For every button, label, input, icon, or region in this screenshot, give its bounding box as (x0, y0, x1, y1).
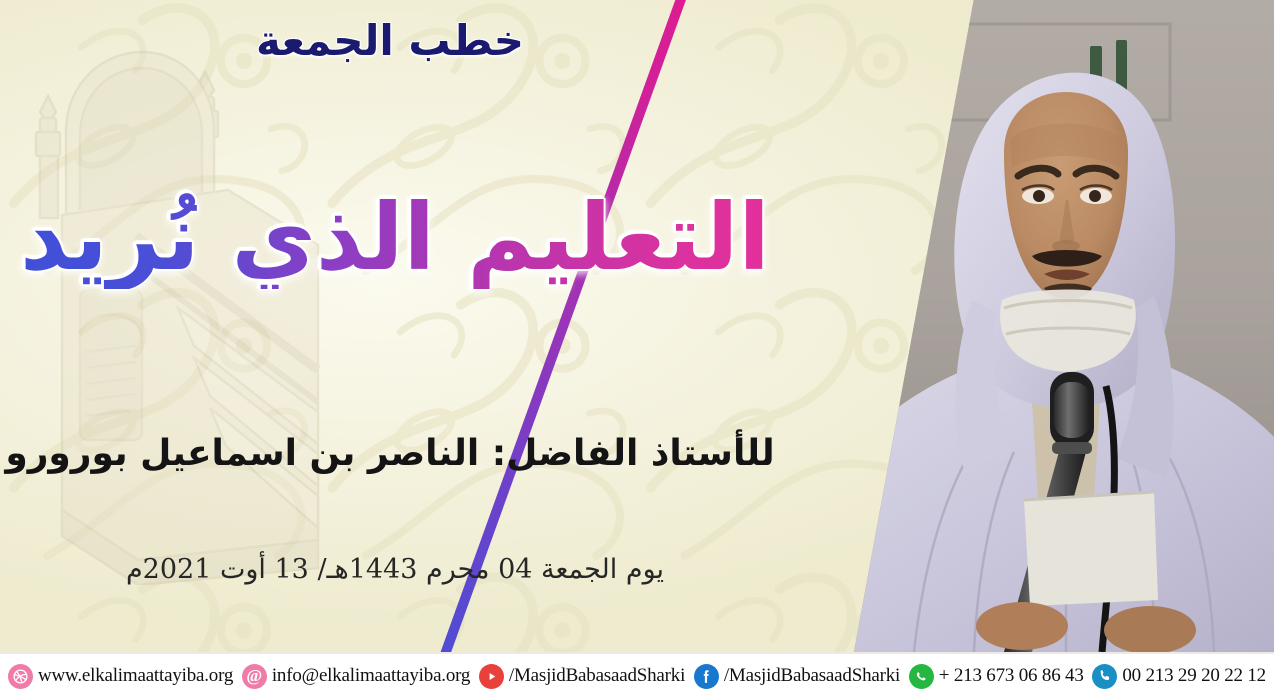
facebook-icon (694, 664, 719, 689)
contact-website[interactable]: www.elkalimaattayiba.org (8, 664, 233, 689)
whatsapp-icon (909, 664, 934, 689)
page-title: التعليم الذي نُريد (0, 186, 790, 289)
contact-phone-label: 00 213 29 20 22 12 (1122, 665, 1266, 687)
contact-phone[interactable]: 00 213 29 20 22 12 (1092, 664, 1266, 689)
khutbah-poster: خطب الجمعة التعليم الذي نُريد للأستاذ ال… (0, 0, 1274, 698)
contact-email-label: info@elkalimaattayiba.org (272, 665, 470, 687)
contact-youtube[interactable]: /MasjidBabasaadSharki (479, 664, 685, 689)
contact-facebook-label: /MasjidBabasaadSharki (724, 665, 900, 687)
contact-whatsapp[interactable]: + 213 673 06 86 43 (909, 664, 1084, 689)
youtube-icon (479, 664, 504, 689)
contact-email[interactable]: @ info@elkalimaattayiba.org (242, 664, 470, 689)
contact-facebook[interactable]: /MasjidBabasaadSharki (694, 664, 900, 689)
globe-icon (8, 664, 33, 689)
presenter-name: للأستاذ الفاضل: الناصر بن اسماعيل بورورو (0, 432, 780, 475)
contact-youtube-label: /MasjidBabasaadSharki (509, 665, 685, 687)
series-kicker: خطب الجمعة (0, 18, 780, 64)
phone-icon (1092, 664, 1117, 689)
email-icon: @ (242, 664, 267, 689)
contact-website-label: www.elkalimaattayiba.org (38, 665, 233, 687)
contact-whatsapp-label: + 213 673 06 86 43 (939, 665, 1084, 687)
footer-contact-bar: www.elkalimaattayiba.org @ info@elkalima… (0, 652, 1274, 698)
sermon-date: يوم الجمعة 04 محرم 1443هـ/ 13 أوت 2021م (0, 553, 790, 587)
minbar-illustration (18, 40, 348, 585)
